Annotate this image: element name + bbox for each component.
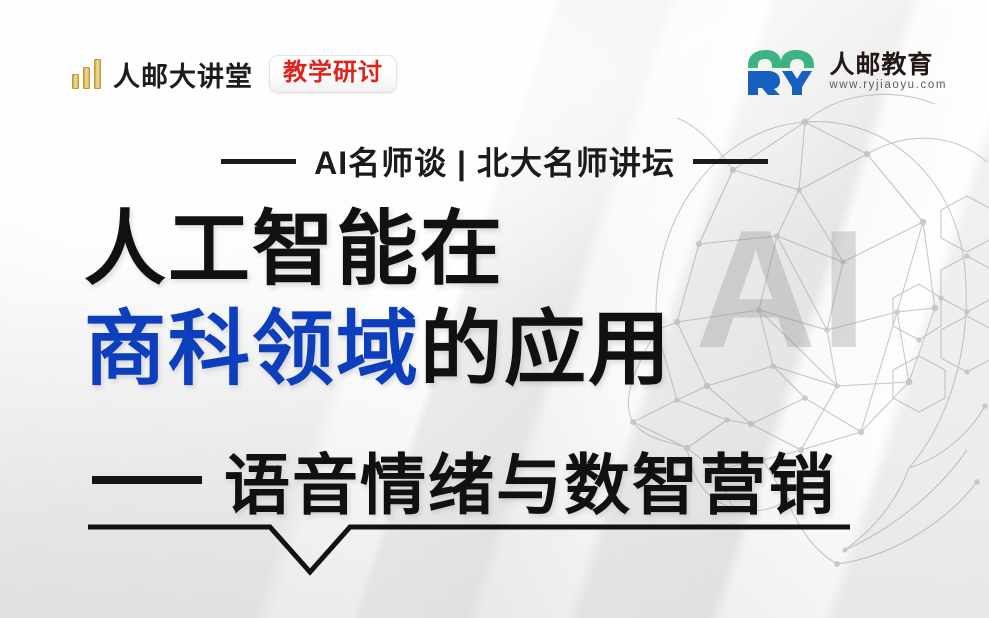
subtitle-row: AI名师谈 | 北大名师讲坛 xyxy=(0,138,989,184)
publisher-text: 人邮教育 www.ryjiaoyu.com xyxy=(829,53,947,92)
subline-text: 语音情绪与数智营销 xyxy=(224,432,836,528)
headline-block: 人工智能在 商科领域的应用 xyxy=(84,204,884,396)
subtitle-text: AI名师谈 | 北大名师讲坛 xyxy=(314,138,675,184)
publisher-logo: 人邮教育 www.ryjiaoyu.com xyxy=(744,48,947,96)
rule-right-icon xyxy=(693,159,768,164)
headline-rest: 的应用 xyxy=(420,304,672,395)
headline-highlight: 商科领域 xyxy=(84,304,420,395)
ryr-logo-icon xyxy=(744,48,818,96)
publisher-url: www.ryjiaoyu.com xyxy=(829,80,947,92)
rule-left-icon xyxy=(221,159,296,164)
headline-line-1: 人工智能在 xyxy=(84,204,884,296)
status-badge: 教学研讨 xyxy=(269,55,397,93)
bar-chart-icon xyxy=(72,59,101,89)
publisher-name: 人邮教育 xyxy=(829,53,947,78)
brand-name: 人邮大讲堂 xyxy=(113,55,253,94)
rule-subline-icon xyxy=(92,476,202,484)
headline-line-2: 商科领域的应用 xyxy=(84,304,884,396)
brand-header: 人邮大讲堂 教学研讨 xyxy=(72,52,397,96)
poster-canvas: AI 人邮大讲堂 教学研讨 人邮教育 www.ryjiaoyu.com AI名师… xyxy=(0,0,989,618)
subline-row: 语音情绪与数智营销 xyxy=(92,432,836,528)
